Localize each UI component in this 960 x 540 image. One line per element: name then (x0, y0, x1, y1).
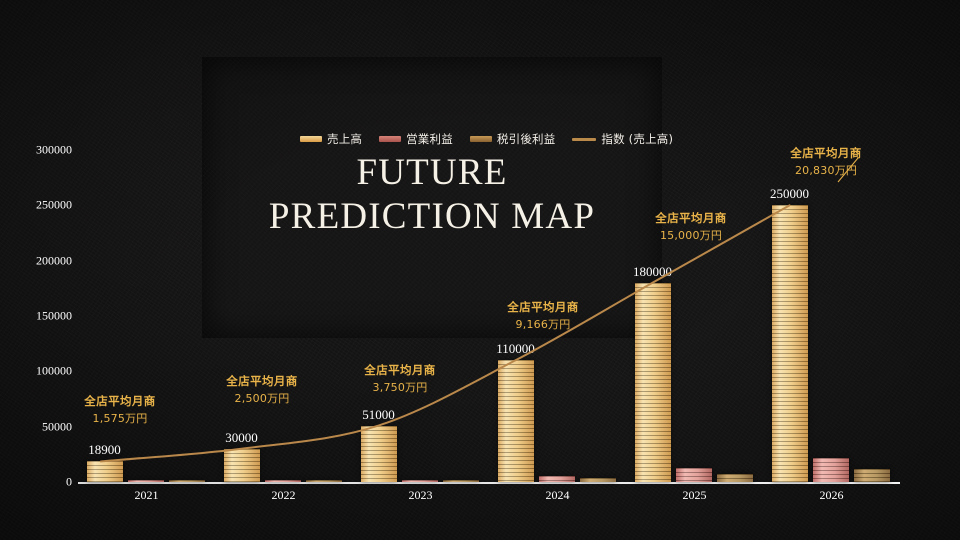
bar-2024-sales: 110000 (498, 360, 534, 482)
y-axis-labels: 050000100000150000200000250000300000 (18, 0, 72, 540)
annotation-title: 全店平均月商 (790, 145, 861, 161)
annotation-value: 2,500万円 (226, 390, 297, 406)
bar-2023-net (443, 480, 479, 482)
annotation-title: 全店平均月商 (84, 393, 155, 409)
annotation-callout-2025: 全店平均月商15,000万円 (655, 210, 726, 243)
bar-stripe-texture (717, 474, 753, 482)
bar-value-label: 250000 (770, 186, 809, 202)
y-axis-tick-label: 250000 (36, 198, 72, 213)
legend-item: 税引後利益 (470, 131, 556, 147)
legend-swatch-icon (379, 136, 401, 142)
title-line-1: FUTURE (202, 151, 662, 195)
bar-2021-sales: 18900 (87, 461, 123, 482)
x-axis-tick-label: 2022 (272, 488, 296, 503)
annotation-value: 9,166万円 (507, 316, 578, 332)
bar-2025-operating (676, 468, 712, 482)
annotation-title: 全店平均月商 (226, 373, 297, 389)
bar-stripe-texture (635, 283, 671, 482)
bar-stripe-texture (128, 480, 164, 482)
bar-stripe-texture (580, 478, 616, 482)
legend-item: 指数 (売上高) (572, 131, 673, 147)
x-axis-line (78, 482, 900, 484)
legend-swatch-icon (470, 136, 492, 142)
bar-stripe-texture (676, 468, 712, 482)
bar-stripe-texture (443, 480, 479, 482)
bar-2023-operating (402, 480, 438, 482)
bar-2025-sales: 180000 (635, 283, 671, 482)
x-axis-tick-label: 2024 (546, 488, 570, 503)
x-axis-tick-label: 2021 (135, 488, 159, 503)
bar-2023-sales: 51000 (361, 426, 397, 482)
y-axis-tick-label: 150000 (36, 309, 72, 324)
chart-legend: 売上高営業利益税引後利益指数 (売上高) (300, 131, 673, 147)
bar-value-label: 30000 (225, 430, 258, 446)
bar-group: 110000 (498, 0, 616, 482)
bar-2022-operating (265, 480, 301, 482)
annotation-value: 1,575万円 (84, 410, 155, 426)
legend-swatch-icon (300, 136, 322, 142)
bar-stripe-texture (224, 449, 260, 482)
title-line-2: PREDICTION MAP (202, 195, 662, 239)
bar-stripe-texture (539, 476, 575, 482)
x-axis-tick-label: 2025 (683, 488, 707, 503)
legend-item: 売上高 (300, 131, 362, 147)
legend-label: 営業利益 (406, 131, 453, 147)
bar-2025-net (717, 474, 753, 482)
bar-group: 250000 (772, 0, 890, 482)
bar-value-label: 110000 (496, 341, 535, 357)
bar-stripe-texture (265, 480, 301, 482)
bar-group: 30000 (224, 0, 342, 482)
legend-line-icon (572, 138, 596, 141)
bar-2022-net (306, 480, 342, 482)
bar-2021-net (169, 480, 205, 482)
bar-value-label: 18900 (88, 442, 121, 458)
bar-value-label: 51000 (362, 407, 395, 423)
bar-2026-sales: 250000 (772, 205, 808, 482)
x-axis-tick-label: 2026 (820, 488, 844, 503)
annotation-title: 全店平均月商 (655, 210, 726, 226)
bar-group: 51000 (361, 0, 479, 482)
legend-label: 税引後利益 (497, 131, 556, 147)
bar-stripe-texture (402, 480, 438, 482)
y-axis-tick-label: 50000 (42, 419, 72, 434)
y-axis-tick-label: 200000 (36, 253, 72, 268)
bar-stripe-texture (87, 461, 123, 482)
legend-label: 指数 (売上高) (601, 131, 673, 147)
bar-2026-operating (813, 458, 849, 482)
annotation-value: 15,000万円 (655, 227, 726, 243)
annotation-title: 全店平均月商 (364, 362, 435, 378)
annotation-value: 3,750万円 (364, 379, 435, 395)
y-axis-tick-label: 300000 (36, 143, 72, 158)
y-axis-tick-label: 0 (66, 475, 72, 490)
annotation-callout-2026: 全店平均月商20,830万円 (790, 145, 861, 178)
chart-area: 050000100000150000200000250000300000 189… (0, 0, 960, 540)
annotation-callout-2023: 全店平均月商3,750万円 (364, 362, 435, 395)
bar-stripe-texture (813, 458, 849, 482)
bar-2026-net (854, 469, 890, 482)
bar-stripe-texture (361, 426, 397, 482)
legend-item: 営業利益 (379, 131, 453, 147)
page-title: FUTURE PREDICTION MAP (202, 151, 662, 238)
annotation-callout-2022: 全店平均月商2,500万円 (226, 373, 297, 406)
bar-stripe-texture (498, 360, 534, 482)
bar-2022-sales: 30000 (224, 449, 260, 482)
legend-label: 売上高 (327, 131, 362, 147)
bar-2024-operating (539, 476, 575, 482)
bar-stripe-texture (854, 469, 890, 482)
annotation-value: 20,830万円 (790, 162, 861, 178)
annotation-callout-2021: 全店平均月商1,575万円 (84, 393, 155, 426)
x-axis-tick-label: 2023 (409, 488, 433, 503)
annotation-callout-2024: 全店平均月商9,166万円 (507, 299, 578, 332)
bar-value-label: 180000 (633, 264, 672, 280)
bar-stripe-texture (772, 205, 808, 482)
bar-stripe-texture (169, 480, 205, 482)
y-axis-tick-label: 100000 (36, 364, 72, 379)
annotation-title: 全店平均月商 (507, 299, 578, 315)
bar-stripe-texture (306, 480, 342, 482)
bar-2021-operating (128, 480, 164, 482)
bar-2024-net (580, 478, 616, 482)
